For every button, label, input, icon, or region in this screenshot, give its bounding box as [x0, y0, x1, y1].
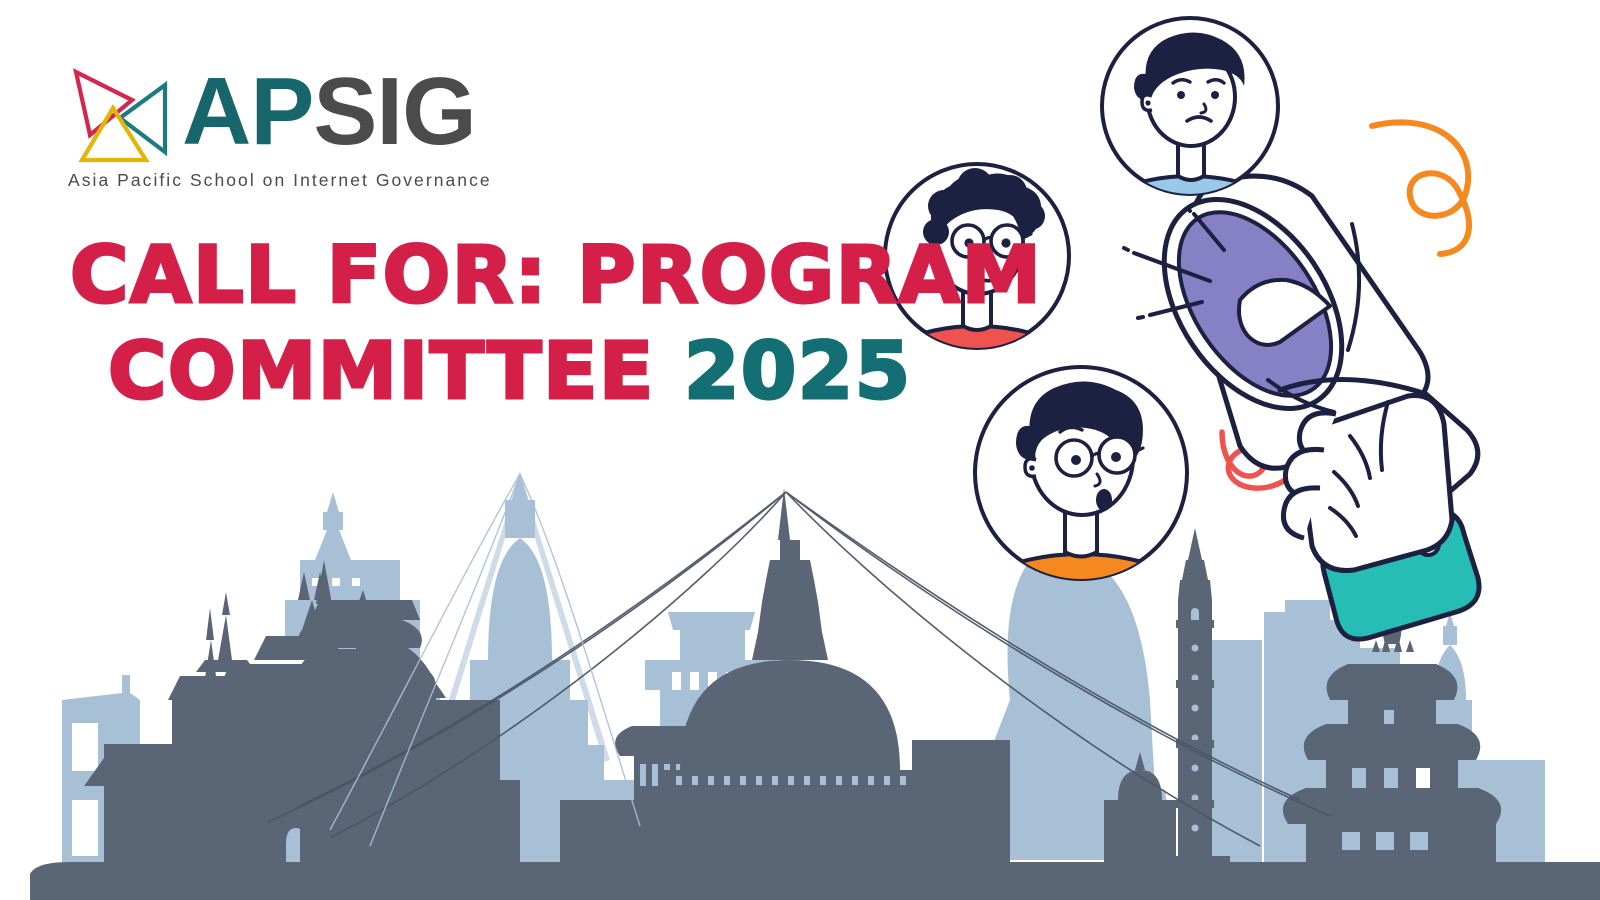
poster-canvas: APSIG Asia Pacific School on Internet Go…: [0, 0, 1600, 900]
logo-row: APSIG: [66, 58, 526, 166]
headline-line-2: COMMITTEE 2025: [108, 324, 1042, 420]
logo-word-sig: SIG: [313, 58, 475, 165]
headline-block: CALL FOR: PROGRAM COMMITTEE 2025: [70, 228, 1023, 420]
apsig-triangles-logo-mark: [66, 60, 176, 165]
headline-line-2-text: COMMITTEE: [108, 327, 684, 417]
headline-year: 2025: [684, 327, 912, 417]
logo-wordmark: APSIG: [182, 64, 476, 160]
headline-line-1: CALL FOR: PROGRAM: [70, 228, 1042, 324]
logo-tagline: Asia Pacific School on Internet Governan…: [68, 170, 526, 191]
logo-word-ap: AP: [182, 58, 313, 165]
apsig-logo[interactable]: APSIG Asia Pacific School on Internet Go…: [66, 58, 526, 191]
